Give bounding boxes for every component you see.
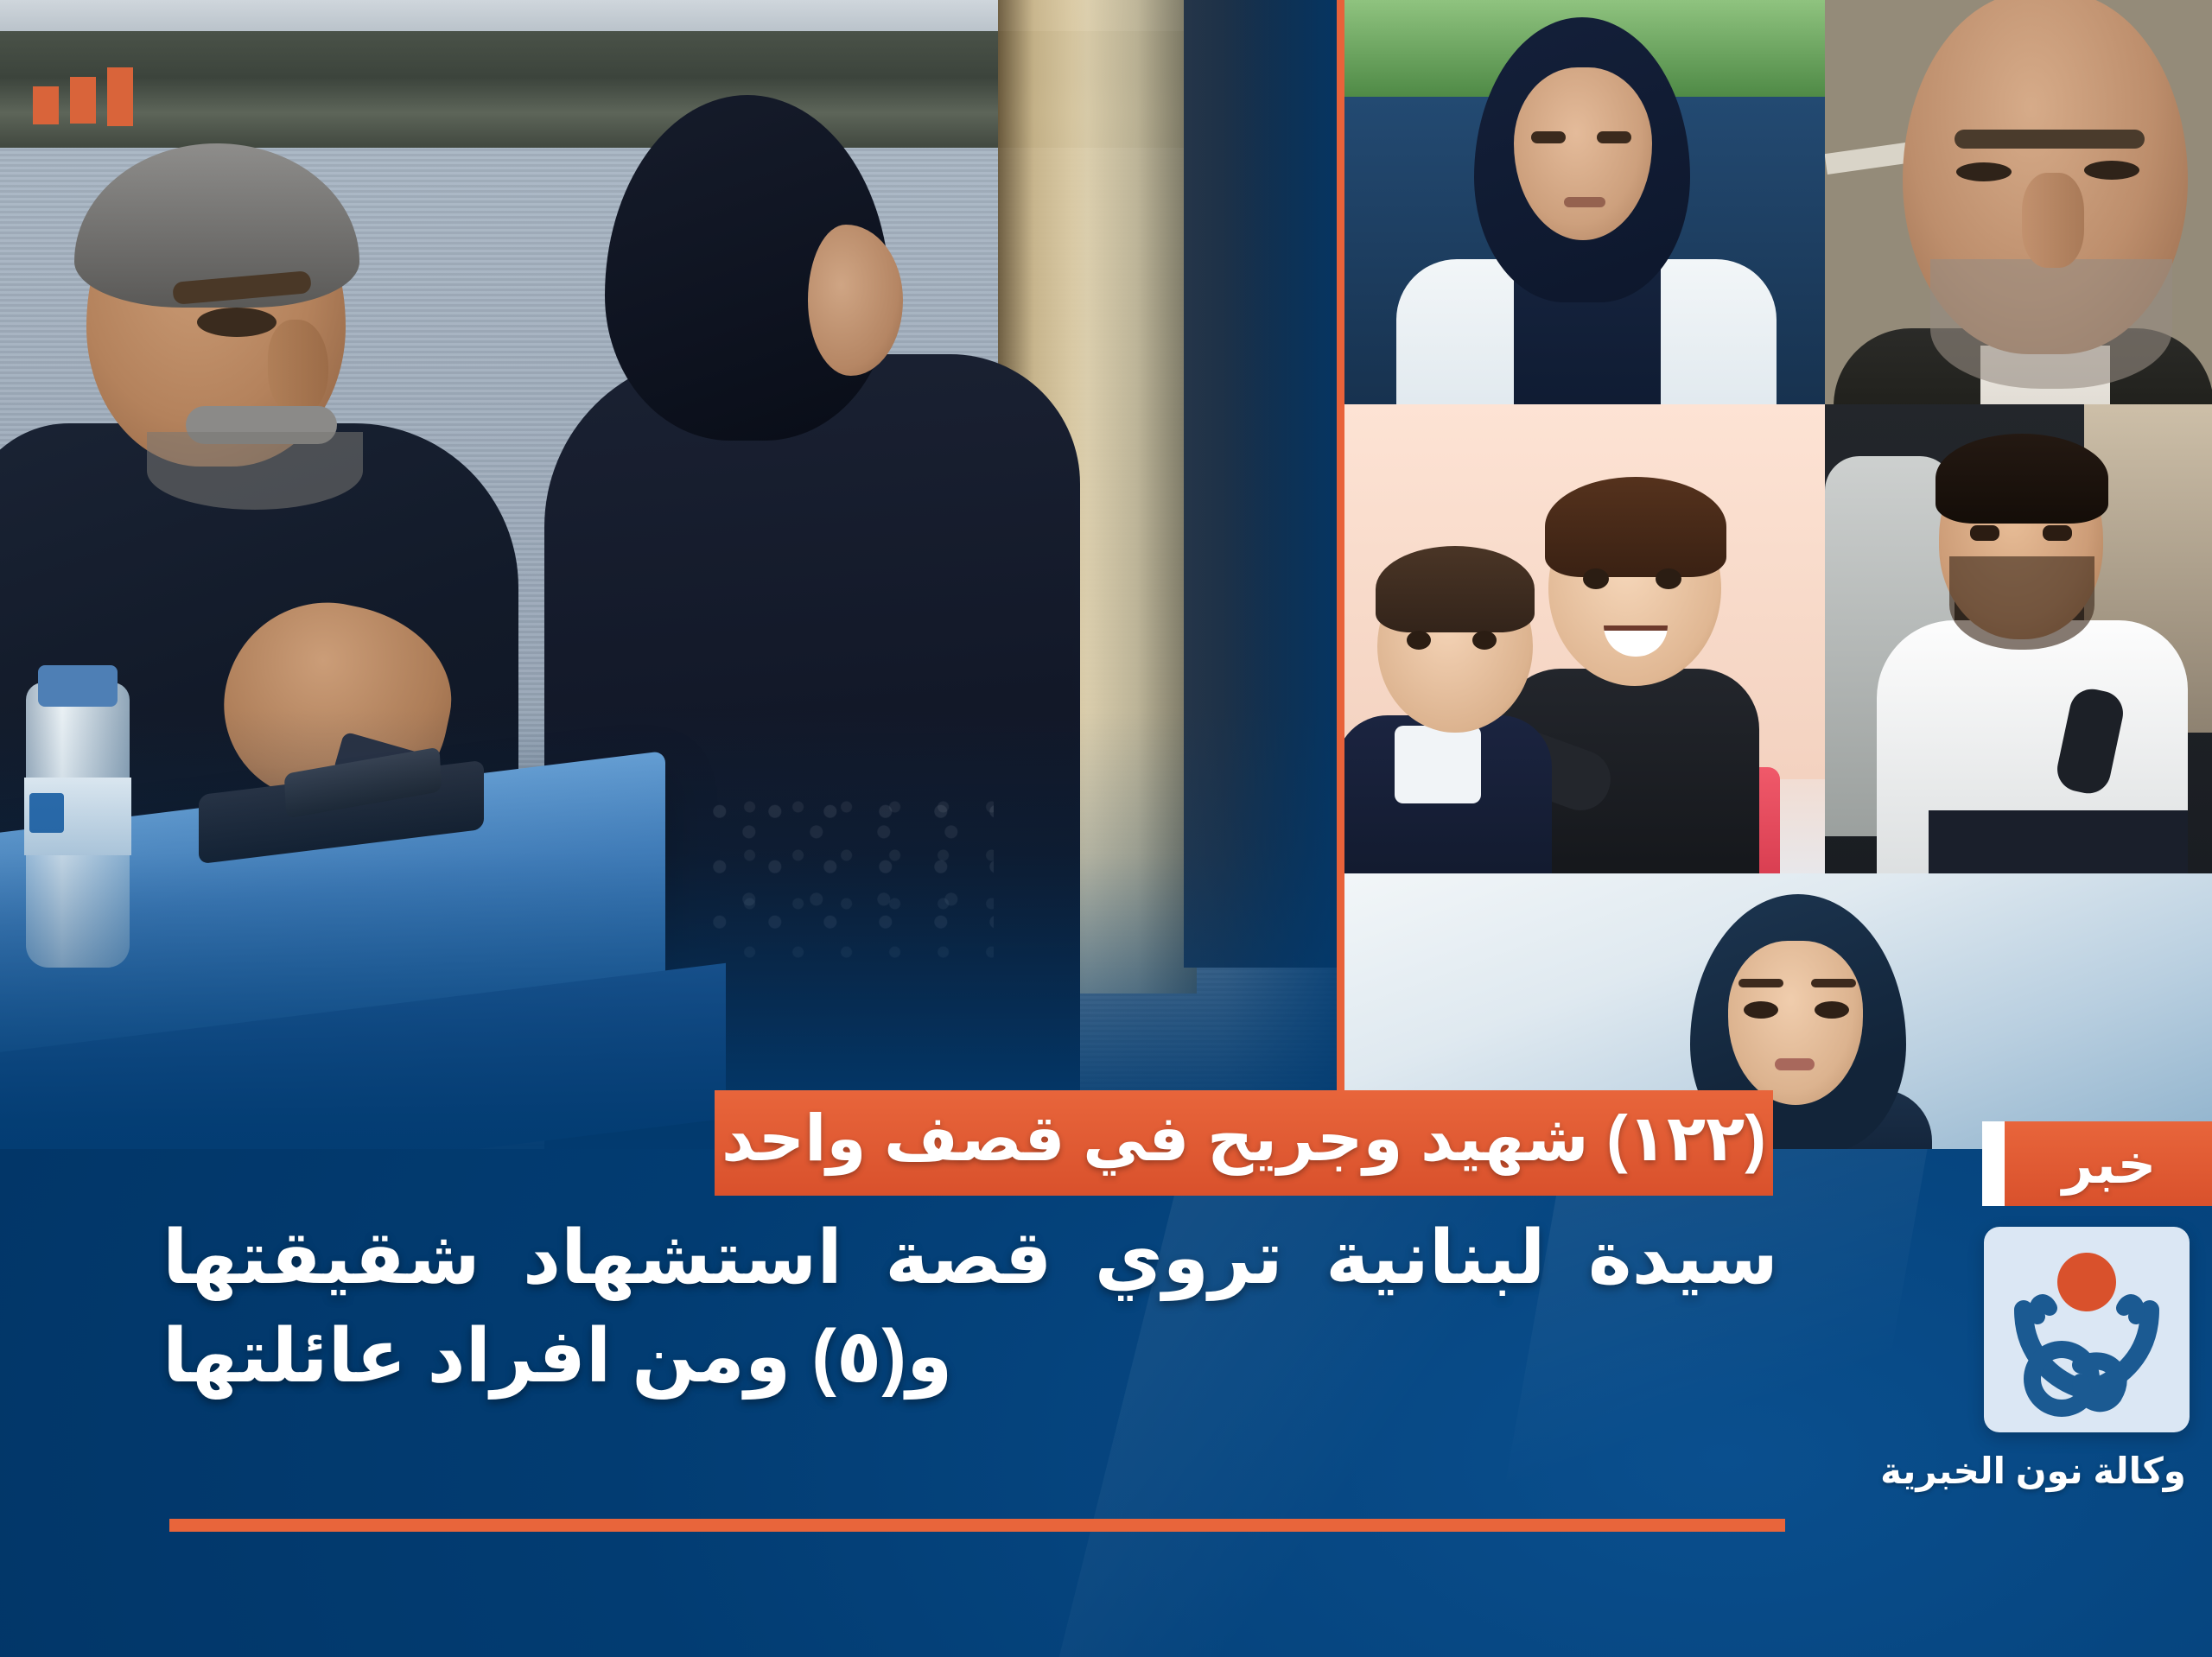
bar-2	[70, 77, 96, 124]
news-badge-box: خبر	[2005, 1121, 2212, 1206]
photo-a-eye-left	[1531, 131, 1566, 143]
photo-a-mouth	[1564, 197, 1605, 207]
photo-b-beard	[1930, 259, 2172, 389]
photo-c-boy2-eye-left	[1583, 568, 1609, 589]
news-badge-white-bar	[1982, 1121, 2005, 1206]
news-badge-label: خبر	[2063, 1133, 2157, 1196]
vertical-orange-divider	[1337, 0, 1344, 1149]
victim-photo-young-man-car	[1825, 404, 2212, 873]
photo-b-eye-left	[1956, 162, 2012, 181]
kicker-text: (١٢٢) شهيد وجريح في قصف واحد	[721, 1107, 1766, 1171]
water-bottle-label-mark	[29, 793, 64, 833]
logo-noon-glyph-icon	[1984, 1227, 2190, 1432]
photo-e-brow-left	[1738, 979, 1783, 987]
headline-line-2: و(٥) ومن افراد عائلتها	[162, 1308, 1778, 1406]
orange-bars-mark-icon	[33, 67, 133, 126]
photo-d-eye-left	[1970, 525, 1999, 541]
photo-d-trousers	[1929, 810, 2188, 873]
photo-e-eye-right	[1815, 1001, 1849, 1019]
agency-logo	[1984, 1227, 2190, 1432]
hero-curtain-dark	[1184, 0, 1340, 968]
photo-b-nose	[2022, 173, 2084, 268]
hero-photo-interview	[0, 0, 1340, 1149]
photo-a-eye-right	[1597, 131, 1631, 143]
water-bottle-cap	[38, 665, 118, 707]
photo-c-boy1-eye-left	[1407, 631, 1431, 650]
man-beard	[147, 432, 363, 510]
photo-d-beard	[1949, 556, 2094, 650]
headline-line-1: سيدة لبنانية تروي قصة استشهاد شقيقتها	[162, 1209, 1778, 1308]
photo-e-eye-left	[1744, 1001, 1778, 1019]
kicker-banner: (١٢٢) شهيد وجريح في قصف واحد	[715, 1090, 1773, 1196]
bar-1	[107, 67, 133, 126]
photo-b-eye-right	[2084, 161, 2139, 180]
woman-face	[808, 225, 903, 376]
man-eye	[197, 308, 276, 337]
bar-3	[33, 86, 59, 124]
news-card: (١٢٢) شهيد وجريح في قصف واحد سيدة لبناني…	[0, 0, 2212, 1657]
news-badge: خبر	[1982, 1121, 2212, 1206]
photo-d-eye-right	[2043, 525, 2072, 541]
photo-c-boy1-hair	[1376, 546, 1535, 632]
victims-photo-grid	[1344, 0, 2212, 1149]
photo-e-mouth	[1775, 1058, 1815, 1070]
woman-abaya-lace	[709, 795, 994, 959]
photo-c-boy2-eye-right	[1656, 568, 1681, 589]
man-nose	[268, 320, 328, 415]
photo-c-boy1-shirt	[1395, 726, 1481, 803]
brand-block: خبر وكالة نون الخبرية	[1877, 1121, 2212, 1492]
headline: سيدة لبنانية تروي قصة استشهاد شقيقتها و(…	[162, 1209, 1778, 1406]
victim-photo-older-man	[1825, 0, 2212, 404]
victim-photo-woman-white-coat	[1344, 0, 1825, 404]
agency-name: وكالة نون الخبرية	[1877, 1450, 2212, 1492]
photo-e-brow-right	[1811, 979, 1856, 987]
photo-c-boy1-eye-right	[1472, 631, 1497, 650]
photo-d-hair	[1935, 434, 2108, 524]
headline-underline-rule	[169, 1519, 1785, 1532]
photo-c-boy2-hair	[1545, 477, 1726, 577]
photo-b-brow	[1955, 130, 2145, 149]
victim-photo-two-boys	[1344, 404, 1825, 873]
